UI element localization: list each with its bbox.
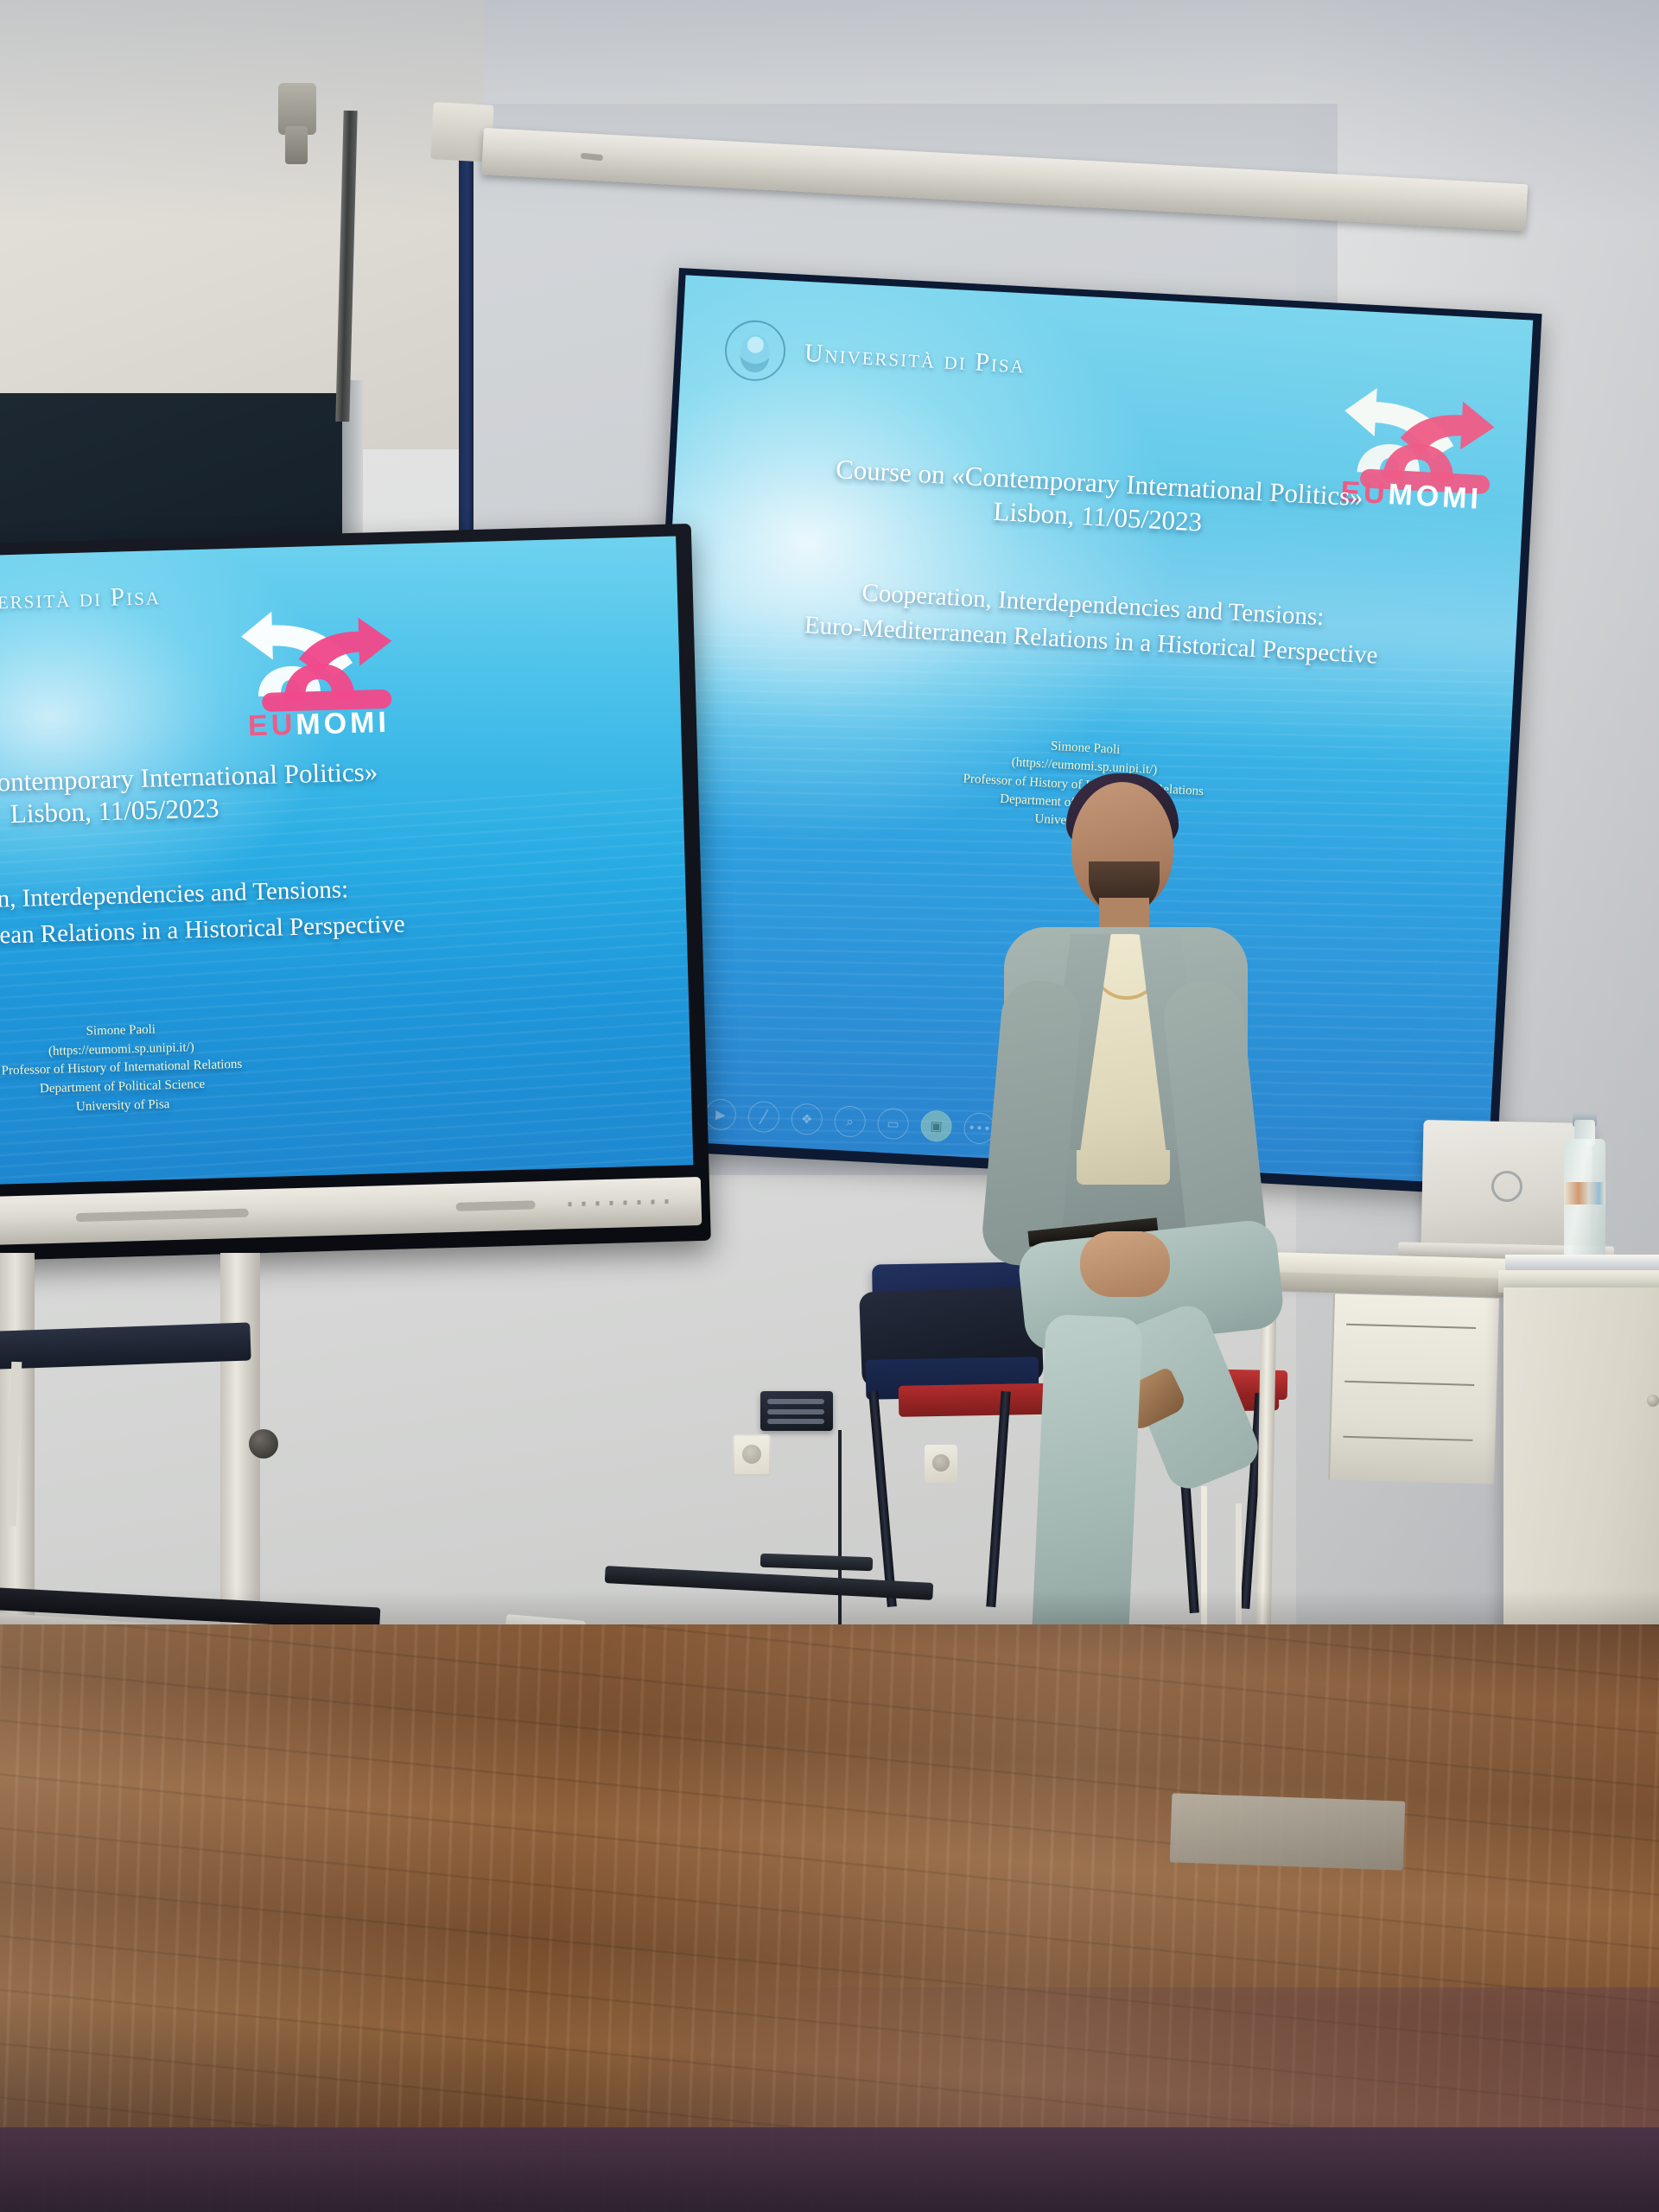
display-eumomi-wordmark-eu: EU <box>248 709 296 743</box>
zoom-tool-icon[interactable]: ⌕ <box>834 1105 867 1138</box>
display-text-block: Course on «Contemporary International Po… <box>0 753 494 1126</box>
display-university-name: Università di Pisa <box>0 582 161 617</box>
display-screen-surface[interactable]: Università di Pisa EUMOMI Course on «Con… <box>0 536 693 1185</box>
wall-socket-left[interactable] <box>733 1434 771 1476</box>
university-header: Università di Pisa <box>720 315 1027 399</box>
floor-front-edge <box>0 2127 1659 2212</box>
roller-bracket-lower <box>285 126 308 164</box>
display-cart-height-knob[interactable] <box>249 1429 278 1459</box>
slide-thumbnails-icon[interactable]: ❖ <box>791 1103 823 1135</box>
hp-logo-icon <box>1491 1171 1523 1203</box>
desk-drawer-line <box>1346 1324 1476 1329</box>
wall-control-box[interactable] <box>760 1391 833 1431</box>
desk-drawer-unit[interactable] <box>1328 1294 1499 1484</box>
display-eumomi-wordmark: EUMOMI <box>227 705 410 744</box>
floor-access-plate <box>1170 1793 1406 1870</box>
desk-drawer-line <box>1343 1436 1472 1441</box>
subtitles-icon[interactable]: ▭ <box>877 1108 910 1141</box>
pen-tool-icon[interactable]: ╱ <box>747 1101 780 1134</box>
wall-socket-right[interactable] <box>925 1445 957 1483</box>
presenter-clasped-hands <box>1080 1231 1170 1297</box>
presenter-view-icon[interactable]: ▣ <box>920 1109 953 1142</box>
university-crest-icon <box>720 315 791 386</box>
display-eumomi-arrows-icon <box>221 596 397 722</box>
display-indicator-leds <box>569 1199 672 1206</box>
next-slide-icon[interactable]: ▶ <box>704 1098 737 1131</box>
desk-drawer-line <box>1344 1381 1474 1386</box>
display-power-button[interactable] <box>456 1200 536 1211</box>
lecture-room-photo: Università di Pisa EUMOMI Course on «Con… <box>0 0 1659 2212</box>
display-speaker-grille-left <box>76 1209 249 1223</box>
display-eumomi-logo: EUMOMI <box>221 595 406 739</box>
water-bottle-label <box>1564 1182 1605 1205</box>
interactive-flat-panel-display[interactable]: Università di Pisa EUMOMI Course on «Con… <box>0 524 711 1262</box>
display-eumomi-wordmark-momi: MOMI <box>296 706 391 741</box>
cabinet-lock-icon[interactable] <box>1647 1395 1659 1407</box>
university-name: Università di Pisa <box>804 339 1027 380</box>
